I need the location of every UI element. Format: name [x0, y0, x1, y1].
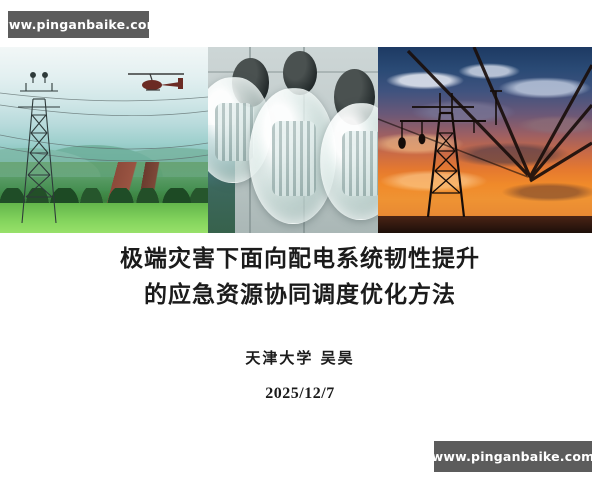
power-cables: [408, 47, 592, 181]
photo-glass-insulators: [208, 47, 378, 233]
title-text-block: 极端灾害下面向配电系统韧性提升 的应急资源协同调度优化方法 天津大学 吴昊 20…: [0, 240, 600, 403]
insulator-core: [215, 103, 254, 161]
pylon-and-cables-overlay: [378, 47, 592, 233]
pylon-left: [18, 73, 60, 223]
presentation-date: 2025/12/7: [0, 385, 600, 403]
watermark-bottom: www.pinganbaike.com: [434, 441, 592, 472]
insulator-core: [272, 121, 316, 196]
pylon-and-helicopter-overlay: [0, 47, 208, 233]
author-affiliation: 天津大学 吴昊: [0, 347, 600, 368]
helicopter-icon: [128, 74, 184, 90]
title-slide: www.pinganbaike.com: [0, 0, 600, 480]
photo-transmission-line-helicopter: [0, 47, 208, 233]
header-image-band: [0, 47, 592, 233]
page-title-line-1: 极端灾害下面向配电系统韧性提升: [0, 240, 600, 278]
pylon-right: [399, 91, 502, 217]
page-title-line-2: 的应急资源协同调度优化方法: [0, 276, 600, 314]
insulator-core: [342, 131, 378, 196]
photo-sunset-pylon: [378, 47, 592, 233]
watermark-top: www.pinganbaike.com: [8, 11, 149, 38]
